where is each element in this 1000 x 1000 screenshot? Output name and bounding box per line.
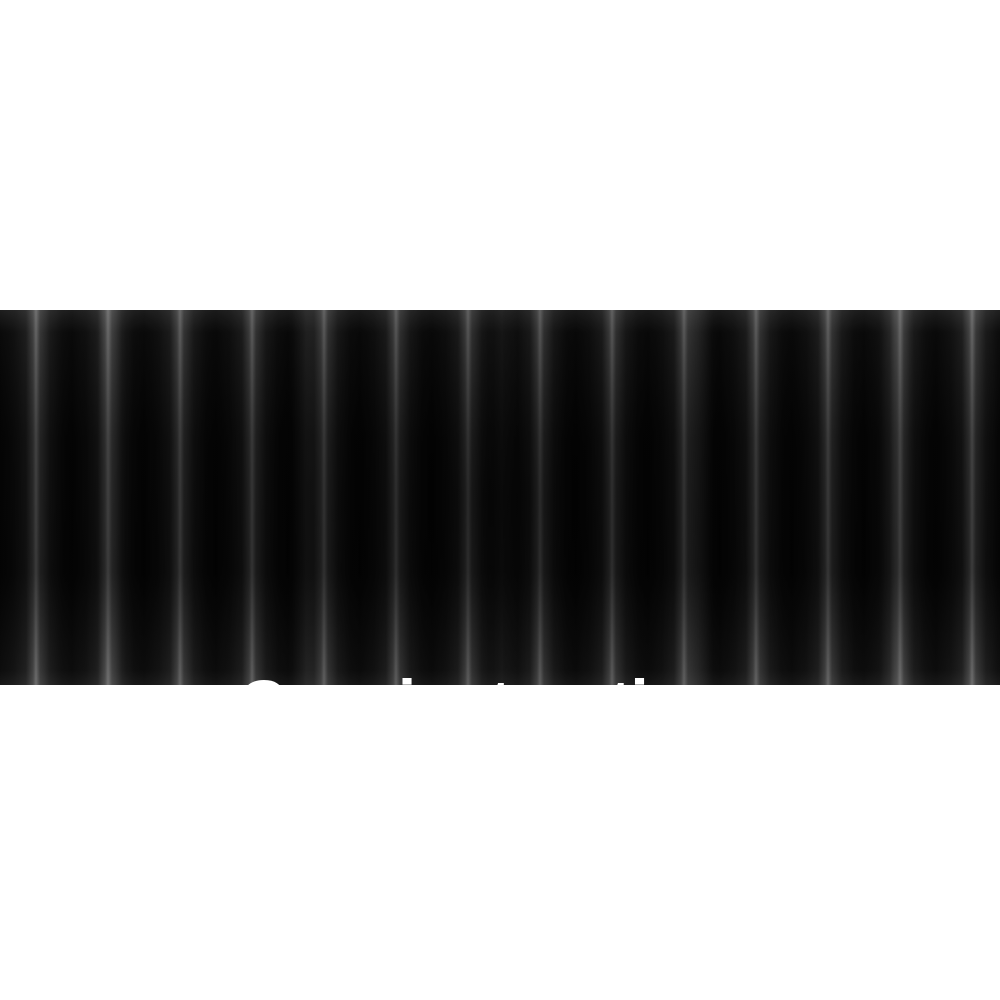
page-title: Care instructions bbox=[0, 665, 1000, 685]
care-instructions-banner: Care instructions Machine washable cold bbox=[0, 310, 1000, 685]
